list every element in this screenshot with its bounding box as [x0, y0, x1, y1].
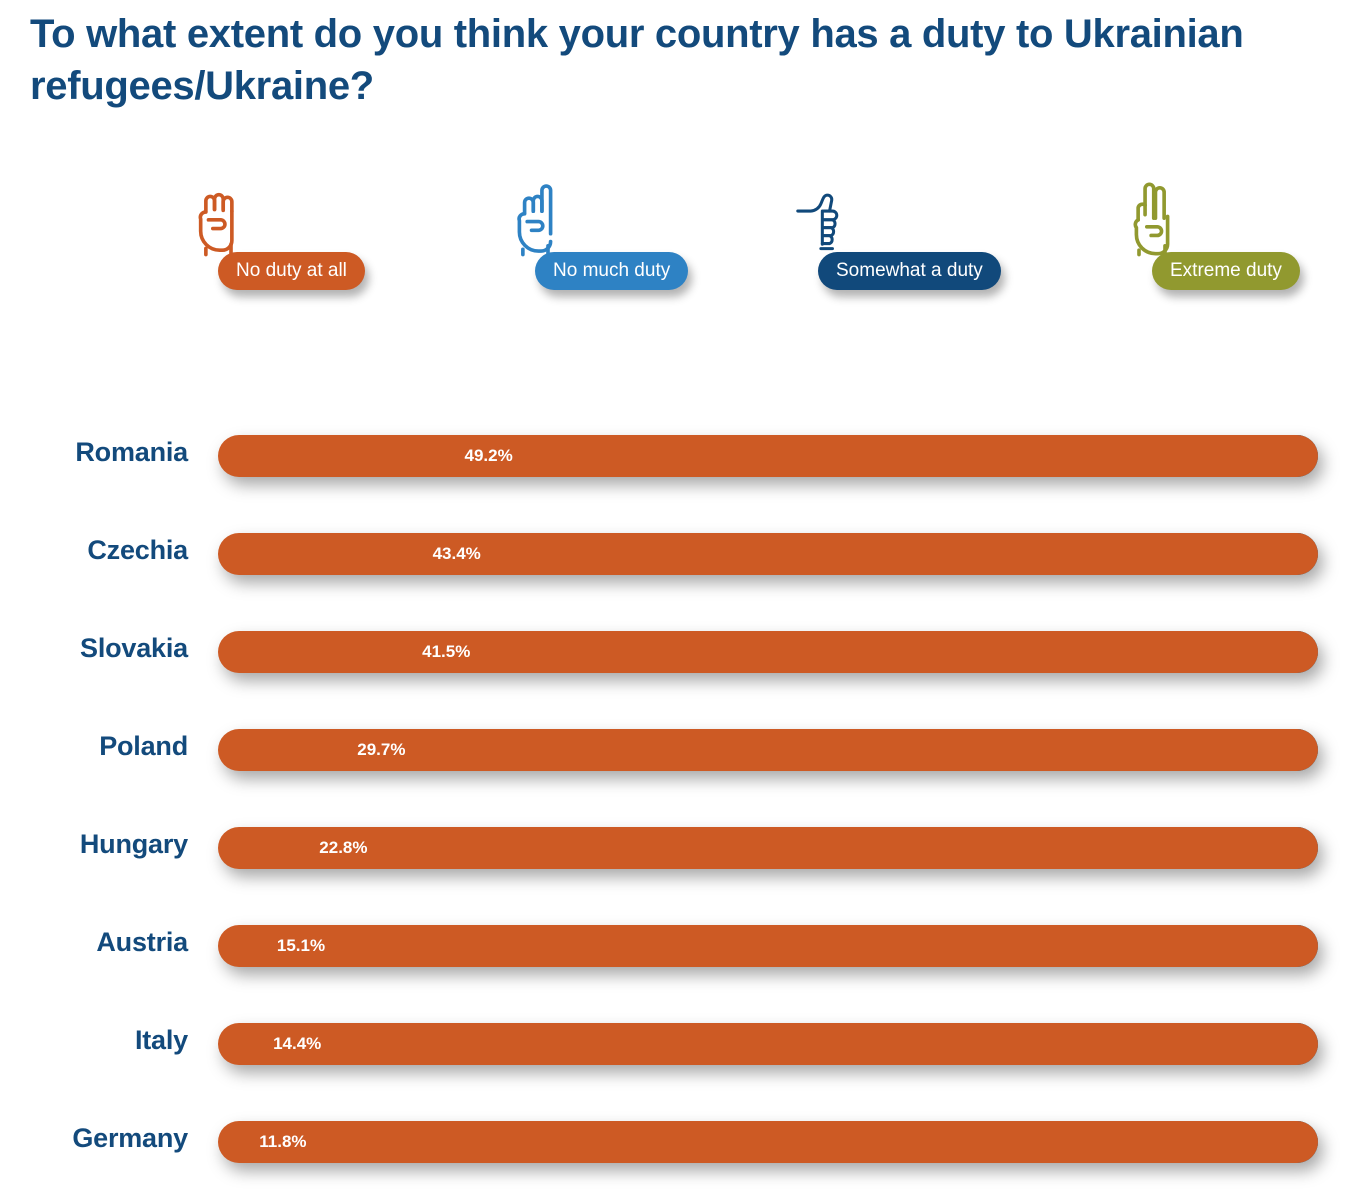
- segment-value-label: 29.7%: [218, 740, 545, 760]
- bar-chart-rows: Romania49.2%14.9%25.9%10.0%Czechia43.4%2…: [0, 415, 1358, 1199]
- stacked-bar: 43.4%23.5%26.8%6.3%: [218, 533, 1318, 575]
- bar-segment-no-duty-at-all: 14.4%: [218, 1023, 1318, 1065]
- bar-segment-no-duty-at-all: 41.5%: [218, 631, 1318, 673]
- stacked-bar: 29.7%25.8%28.7%15.8%: [218, 729, 1318, 771]
- chart-row: Romania49.2%14.9%25.9%10.0%: [0, 415, 1358, 513]
- legend: No duty at allNo much dutySomewhat a dut…: [0, 180, 1358, 300]
- legend-label: Somewhat a duty: [818, 252, 1001, 290]
- chart-row: Italy14.4%15.7%46.5%23.4%: [0, 1003, 1358, 1101]
- chart-row: Hungary22.8%18.0%37.3%21.9%: [0, 807, 1358, 905]
- country-label: Hungary: [0, 829, 188, 860]
- stacked-bar: 15.1%26.6%51.7%6.7%: [218, 925, 1318, 967]
- country-label: Poland: [0, 731, 188, 762]
- bar-segment-no-duty-at-all: 43.4%: [218, 533, 1318, 575]
- chart-row: Austria15.1%26.6%51.7%6.7%: [0, 905, 1358, 1003]
- country-label: Austria: [0, 927, 188, 958]
- bar-segment-no-duty-at-all: 11.8%: [218, 1121, 1318, 1163]
- segment-value-label: 41.5%: [218, 642, 675, 662]
- stacked-bar: 14.4%15.7%46.5%23.4%: [218, 1023, 1318, 1065]
- segment-value-label: 15.1%: [218, 936, 384, 956]
- segment-value-label: 14.4%: [218, 1034, 376, 1054]
- index-finger-up-hand-icon: [509, 180, 561, 258]
- chart-row: Slovakia41.5%23.0%24.9%10.6%: [0, 611, 1358, 709]
- page-title: To what extent do you think your country…: [30, 8, 1270, 112]
- stacked-bar: 11.8%21.7%55.7%10.8%: [218, 1121, 1318, 1163]
- stacked-bar: 41.5%23.0%24.9%10.6%: [218, 631, 1318, 673]
- country-label: Slovakia: [0, 633, 188, 664]
- country-label: Romania: [0, 437, 188, 468]
- bar-segment-no-duty-at-all: 15.1%: [218, 925, 1318, 967]
- country-label: Czechia: [0, 535, 188, 566]
- bar-segment-no-duty-at-all: 22.8%: [218, 827, 1318, 869]
- country-label: Germany: [0, 1123, 188, 1154]
- segment-value-label: 11.8%: [218, 1132, 348, 1152]
- bar-segment-no-duty-at-all: 49.2%: [218, 435, 1318, 477]
- segment-value-label: 22.8%: [218, 838, 469, 858]
- two-fingers-up-hand-icon: [1126, 180, 1178, 258]
- bar-segment-no-duty-at-all: 29.7%: [218, 729, 1318, 771]
- chart-row: Czechia43.4%23.5%26.8%6.3%: [0, 513, 1358, 611]
- fist-hand-icon: [192, 180, 244, 258]
- segment-value-label: 49.2%: [218, 446, 759, 466]
- thumbs-up-hand-icon: [792, 180, 844, 258]
- chart-row: Germany11.8%21.7%55.7%10.8%: [0, 1101, 1358, 1199]
- segment-value-label: 43.4%: [218, 544, 695, 564]
- stacked-bar: 49.2%14.9%25.9%10.0%: [218, 435, 1318, 477]
- chart-row: Poland29.7%25.8%28.7%15.8%: [0, 709, 1358, 807]
- stacked-bar: 22.8%18.0%37.3%21.9%: [218, 827, 1318, 869]
- country-label: Italy: [0, 1025, 188, 1056]
